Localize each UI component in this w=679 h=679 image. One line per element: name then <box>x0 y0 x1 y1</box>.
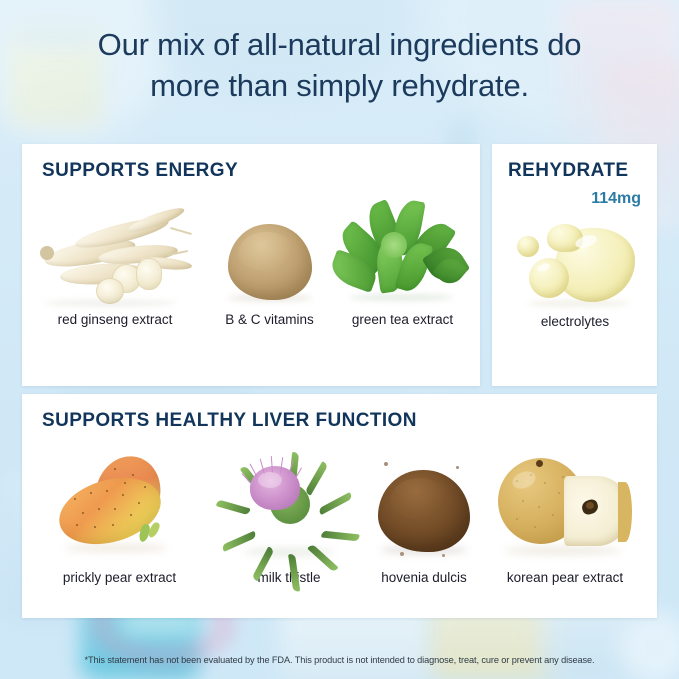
prickly-pear-icon <box>52 452 188 564</box>
ingredient-label: milk thistle <box>214 570 364 585</box>
ingredient-label: korean pear extract <box>480 570 650 585</box>
korean-pear-icon <box>490 448 640 564</box>
panel-heading-energy: SUPPORTS ENERGY <box>42 160 238 182</box>
green-tea-leaves-icon <box>333 196 473 306</box>
panel-heading-liver: SUPPORTS HEALTHY LIVER FUNCTION <box>42 410 417 432</box>
ingredient-red-ginseng-extract: red ginseng extract <box>30 206 200 327</box>
fda-disclaimer: *This statement has not been evaluated b… <box>0 655 679 665</box>
electrolyte-droplets-icon <box>511 224 639 308</box>
ingredient-label: prickly pear extract <box>32 570 207 585</box>
ingredient-label: red ginseng extract <box>30 312 200 327</box>
ingredient-prickly-pear-extract: prickly pear extract <box>32 452 207 585</box>
panel-rehydrate: REHYDRATE 114mg electrolytes <box>492 144 657 386</box>
bg-highlight-blur <box>620 612 679 679</box>
ingredient-korean-pear-extract: korean pear extract <box>480 448 650 585</box>
milk-thistle-icon <box>230 446 348 564</box>
ingredient-b-and-c-vitamins: B & C vitamins <box>197 206 342 327</box>
title-line-1: Our mix of all-natural ingredients do <box>0 24 679 65</box>
ingredient-label: B & C vitamins <box>197 312 342 327</box>
ingredient-green-tea-extract: green tea extract <box>330 196 475 327</box>
panel-heading-rehydrate: REHYDRATE <box>508 160 628 182</box>
ingredient-milk-thistle: milk thistle <box>214 446 364 585</box>
rehydrate-amount: 114mg <box>591 190 641 208</box>
title-line-2: more than simply rehydrate. <box>0 65 679 106</box>
ingredient-label: green tea extract <box>330 312 475 327</box>
ginseng-root-icon <box>40 206 190 306</box>
hovenia-powder-icon <box>372 452 476 564</box>
ingredient-label: electrolytes <box>500 314 650 329</box>
page-title: Our mix of all-natural ingredients do mo… <box>0 24 679 106</box>
panel-supports-energy: SUPPORTS ENERGY red ginseng extract B & … <box>22 144 480 386</box>
ingredient-electrolytes: electrolytes <box>500 224 650 329</box>
panel-supports-healthy-liver-function: SUPPORTS HEALTHY LIVER FUNCTION prickly … <box>22 394 657 618</box>
vitamin-powder-icon <box>222 206 318 306</box>
